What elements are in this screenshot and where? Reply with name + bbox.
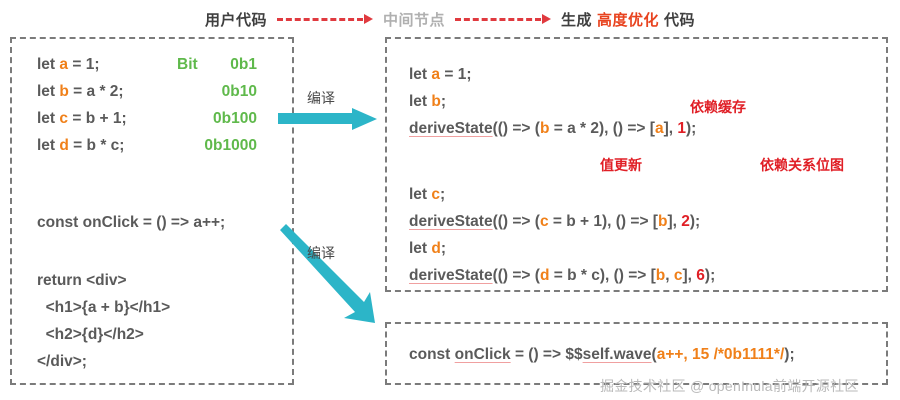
declaration-keyword: let <box>37 56 59 73</box>
handler-token-0: const <box>409 346 455 363</box>
declaration-code-c: let c = b + 1; <box>37 105 177 132</box>
derive-two-3-token-1: (() => ( <box>493 267 540 284</box>
declaration-expression: = a * 2; <box>69 83 124 100</box>
declaration-expression: = 1; <box>68 56 99 73</box>
handler-token-6: ); <box>784 346 794 363</box>
derive-two-3-token-5: , <box>665 267 674 284</box>
header-generate-prefix: 生成 <box>561 9 592 30</box>
declaration-identifier: a <box>59 56 68 73</box>
derive-two-2-token-0: let <box>409 240 431 257</box>
user-declaration-row: let b = a * 2;0b10 <box>37 78 257 105</box>
derive-two-line: deriveState(() => (c = b + 1), () => [b]… <box>409 208 715 235</box>
derive-one-line: let a = 1; <box>409 61 696 88</box>
declaration-bit-a: 0b1 <box>177 51 257 78</box>
derive-two-line: deriveState(() => (d = b * c), () => [b,… <box>409 262 715 289</box>
annotation-dependency-cache: 依赖缓存 <box>690 97 746 117</box>
derive-one-2-token-3: = a * 2), () => [ <box>549 120 655 137</box>
declaration-bit-d: 0b1000 <box>177 132 257 159</box>
declaration-keyword: let <box>37 83 59 100</box>
declaration-code-b: let b = a * 2; <box>37 78 177 105</box>
header-generate-accent: 高度优化 <box>597 9 659 30</box>
derive-one-2-token-2: b <box>540 120 549 137</box>
header-stage-intermediate: 中间节点 <box>383 9 445 30</box>
derive-two-3-token-3: = b * c), () => [ <box>549 267 655 284</box>
annotation-value-update: 值更新 <box>600 155 642 175</box>
derive-two-1-token-6: 2 <box>681 213 690 230</box>
derive-two-1-token-0: deriveState <box>409 213 493 230</box>
derive-one-line: let b; <box>409 88 696 115</box>
pipeline-header: 用户代码 中间节点 生成 高度优化 代码 <box>0 6 900 32</box>
derive-two-1-token-7: ); <box>690 213 700 230</box>
user-jsx-line: <h1>{a + b}</h1> <box>37 294 170 321</box>
user-jsx-block: return <div> <h1>{a + b}</h1> <h2>{d}</h… <box>37 267 170 375</box>
declaration-keyword: let <box>37 110 59 127</box>
declaration-expression: = b + 1; <box>68 110 127 127</box>
derive-two-3-token-8: 6 <box>696 267 705 284</box>
derive-one-1-token-2: ; <box>441 93 446 110</box>
dashed-arrow-right-icon-2 <box>455 13 551 25</box>
derive-two-0-token-0: let <box>409 186 431 203</box>
handler-token-5: a++, 15 /*0b1111*/ <box>657 346 785 363</box>
user-declaration-row: let d = b * c;0b1000 <box>37 132 257 159</box>
derive-block-one: let a = 1;let b;deriveState(() => (b = a… <box>409 61 696 142</box>
derive-two-3-token-6: c <box>674 267 683 284</box>
declaration-code-a: let a = 1; <box>37 51 177 78</box>
derive-two-0-token-2: ; <box>440 186 445 203</box>
handler-token-1: onClick <box>455 346 511 363</box>
user-declaration-list: let a = 1;0b1let b = a * 2;0b10let c = b… <box>37 51 257 159</box>
diagram-canvas: 用户代码 中间节点 生成 高度优化 代码 Bit let a = 1;0b1le… <box>0 0 900 400</box>
dashed-arrow-right-icon-1 <box>277 13 373 25</box>
derive-one-2-token-1: (() => ( <box>493 120 540 137</box>
derive-two-2-token-2: ; <box>441 240 446 257</box>
user-jsx-line: <h2>{d}</h2> <box>37 321 170 348</box>
header-stage-generate: 生成 高度优化 代码 <box>561 9 695 30</box>
derive-one-line: deriveState(() => (b = a * 2), () => [a]… <box>409 115 696 142</box>
handler-token-3: self.wave <box>583 346 652 363</box>
handler-code-line: const onClick = () => $$self.wave(a++, 1… <box>409 341 795 368</box>
user-jsx-line: </div>; <box>37 348 170 375</box>
user-handler-line: const onClick = () => a++; <box>37 209 225 236</box>
derive-one-1-token-1: b <box>431 93 440 110</box>
teal-arrow-right-icon <box>278 108 378 135</box>
user-declaration-row: let a = 1;0b1 <box>37 51 257 78</box>
user-declaration-row: let c = b + 1;0b100 <box>37 105 257 132</box>
derive-one-2-token-7: ); <box>686 120 696 137</box>
derive-two-1-token-5: ], <box>667 213 681 230</box>
teal-arrow-down-right-icon <box>278 222 388 337</box>
declaration-bit-b: 0b10 <box>177 78 257 105</box>
derive-one-2-token-5: ], <box>664 120 678 137</box>
user-jsx-line: return <div> <box>37 267 170 294</box>
derive-two-3-token-9: ); <box>705 267 715 284</box>
declaration-identifier: b <box>59 83 68 100</box>
declaration-keyword: let <box>37 137 59 154</box>
derive-two-0-token-1: c <box>431 186 440 203</box>
compile-label-top: 编译 <box>307 88 335 108</box>
derive-one-0-token-1: a <box>431 66 440 83</box>
declaration-identifier: d <box>59 137 68 154</box>
derive-one-2-token-0: deriveState <box>409 120 493 137</box>
derive-two-3-token-0: deriveState <box>409 267 493 284</box>
derive-one-0-token-0: let <box>409 66 431 83</box>
annotation-dependency-bitmap: 依赖关系位图 <box>760 155 844 175</box>
compile-label-bottom: 编译 <box>307 243 335 263</box>
derive-two-1-token-3: = b + 1), () => [ <box>549 213 658 230</box>
declaration-code-d: let d = b * c; <box>37 132 177 159</box>
declaration-identifier: c <box>59 110 68 127</box>
derive-one-2-token-4: a <box>655 120 664 137</box>
derive-one-2-token-6: 1 <box>677 120 686 137</box>
derive-one-0-token-2: = 1; <box>440 66 471 83</box>
declaration-bit-c: 0b100 <box>177 105 257 132</box>
derive-two-3-token-2: d <box>540 267 549 284</box>
derive-one-1-token-0: let <box>409 93 431 110</box>
header-generate-suffix: 代码 <box>664 9 695 30</box>
header-stage-user-code: 用户代码 <box>205 9 267 30</box>
derive-two-1-token-2: c <box>540 213 549 230</box>
derive-two-line: let d; <box>409 235 715 262</box>
handler-token-2: = () => $$ <box>511 346 583 363</box>
derive-two-3-token-4: b <box>656 267 665 284</box>
declaration-expression: = b * c; <box>69 137 125 154</box>
derive-block-two: let c;deriveState(() => (c = b + 1), () … <box>409 181 715 289</box>
watermark: 掘金技术社区 @ openInula前端开源社区 <box>600 376 859 396</box>
user-code-panel: Bit let a = 1;0b1let b = a * 2;0b10let c… <box>10 37 294 385</box>
derive-two-2-token-1: d <box>431 240 440 257</box>
derive-two-line: let c; <box>409 181 715 208</box>
derive-two-1-token-1: (() => ( <box>493 213 540 230</box>
derive-two-3-token-7: ], <box>683 267 697 284</box>
